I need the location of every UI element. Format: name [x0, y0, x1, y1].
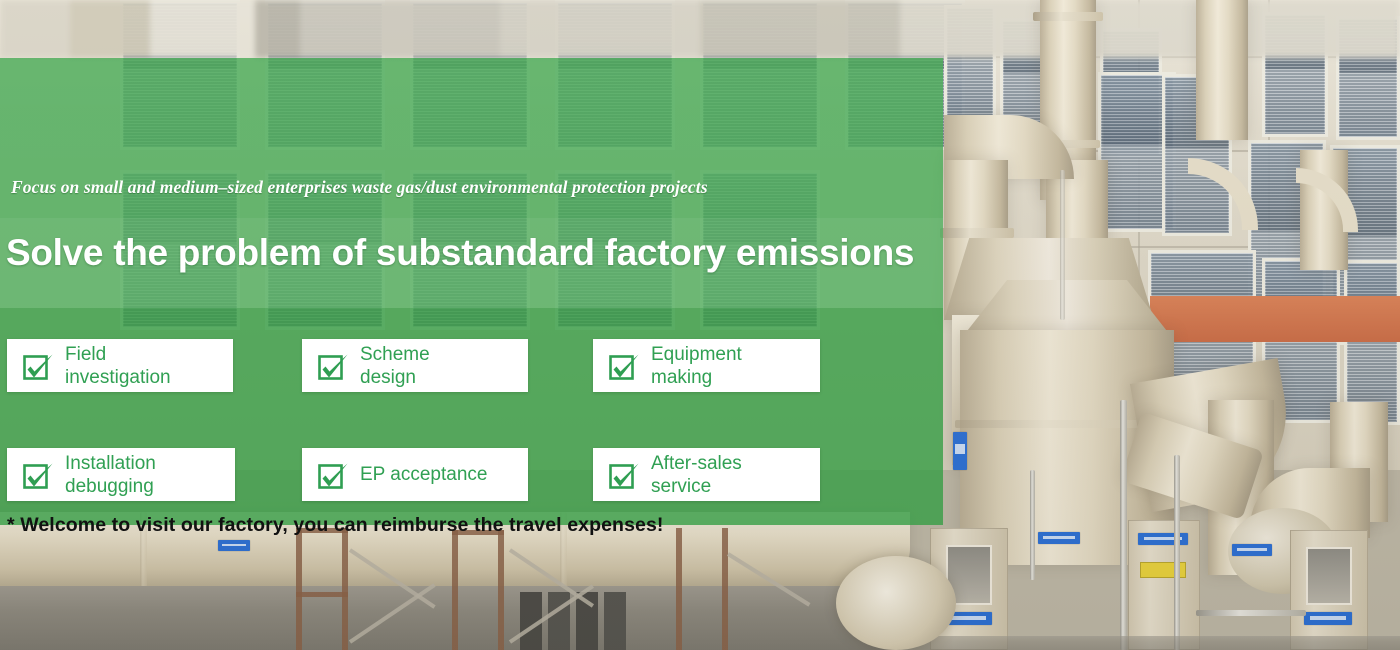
feature-card-field-investigation[interactable]: Field investigation [7, 339, 233, 392]
factory-floor [0, 586, 900, 650]
green-overlay-panel: Focus on small and medium–sized enterpri… [0, 58, 943, 525]
main-duct-label [218, 540, 250, 551]
cabinet-label-mid [1138, 533, 1188, 545]
facade-accent-band [1150, 296, 1400, 342]
promo-banner: Focus on small and medium–sized enterpri… [0, 0, 1400, 650]
feature-card-equipment-making[interactable]: Equipment making [593, 339, 820, 392]
checkbox-checked-icon [316, 458, 350, 492]
tagline: Focus on small and medium–sized enterpri… [11, 177, 708, 198]
factory-floor-right [900, 636, 1400, 650]
feature-card-installation-debugging[interactable]: Installation debugging [7, 448, 235, 501]
feature-card-after-sales-service[interactable]: After-sales service [593, 448, 820, 501]
duct-label-1 [953, 432, 967, 470]
feature-card-ep-acceptance[interactable]: EP acceptance [302, 448, 528, 501]
foreground-blur-strip [0, 0, 1400, 58]
feature-card-scheme-design[interactable]: Scheme design [302, 339, 528, 392]
footnote: * Welcome to visit our factory, you can … [7, 514, 664, 537]
fan-wheel [836, 556, 956, 650]
feature-label: Installation debugging [65, 452, 156, 498]
checkbox-checked-icon [21, 458, 55, 492]
feature-label: Scheme design [360, 343, 430, 389]
riser-duct-3 [1196, 0, 1248, 140]
page-title: Solve the problem of substandard factory… [6, 231, 914, 275]
duct-label-2 [1038, 532, 1080, 544]
checkbox-checked-icon [607, 458, 641, 492]
overlay-content: Focus on small and medium–sized enterpri… [0, 58, 943, 525]
checkbox-checked-icon [607, 349, 641, 383]
checkbox-checked-icon [21, 349, 55, 383]
feature-label: Field investigation [65, 343, 171, 389]
feature-label: Equipment making [651, 343, 742, 389]
cabinet-label-right [1304, 612, 1352, 625]
feature-label: EP acceptance [360, 463, 487, 486]
checkbox-checked-icon [316, 349, 350, 383]
feature-label: After-sales service [651, 452, 742, 498]
duct-label-3 [1232, 544, 1272, 556]
